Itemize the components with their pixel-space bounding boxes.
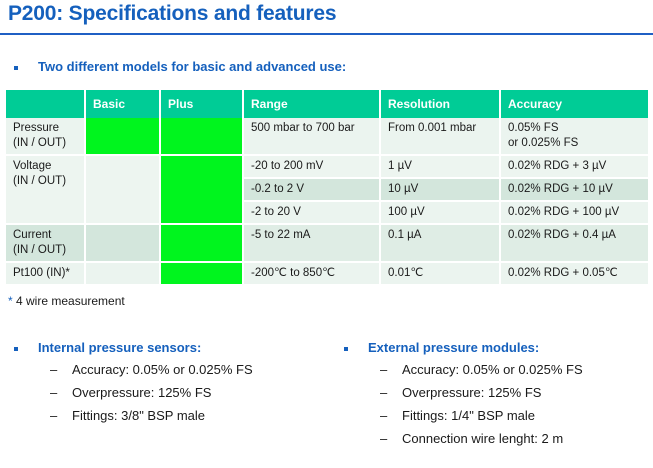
accuracy-voltage-2: 0.02% RDG + 10 µV — [500, 178, 648, 201]
square-bullet-icon — [14, 66, 18, 70]
range-pt100: -200℃ to 850℃ — [243, 262, 380, 285]
title-divider — [0, 33, 653, 35]
range-voltage-2: -0.2 to 2 V — [243, 178, 380, 201]
accuracy-current: 0.02% RDG + 0.4 µA — [500, 224, 648, 262]
resolution-pt100: 0.01℃ — [380, 262, 500, 285]
range-current: -5 to 22 mA — [243, 224, 380, 262]
dash-bullet-icon: – — [380, 431, 389, 447]
dash-bullet-icon: – — [380, 385, 389, 401]
basic-mark-voltage — [85, 155, 160, 224]
specifications-table: Basic Plus Range Resolution Accuracy Pre… — [6, 90, 648, 286]
footnote-text: 4 wire measurement — [13, 294, 125, 308]
col-header-param — [6, 90, 85, 118]
table-footnote: * 4 wire measurement — [8, 294, 125, 308]
internal-heading: Internal pressure sensors: — [14, 340, 334, 355]
table-row: Current (IN / OUT) -5 to 22 mA 0.1 µA 0.… — [6, 224, 648, 262]
param-name: Voltage — [13, 159, 77, 174]
param-sub: (IN / OUT) — [13, 136, 77, 151]
range-voltage-1: -20 to 200 mV — [243, 155, 380, 178]
internal-heading-label: Internal pressure sensors: — [38, 340, 201, 355]
dash-bullet-icon: – — [50, 362, 59, 378]
col-header-range: Range — [243, 90, 380, 118]
plus-mark-current — [160, 224, 243, 262]
table-header-row: Basic Plus Range Resolution Accuracy — [6, 90, 648, 118]
plus-mark-pt100 — [160, 262, 243, 285]
list-item: – Overpressure: 125% FS — [380, 385, 653, 401]
table-row: Pt100 (IN)* -200℃ to 850℃ 0.01℃ 0.02% RD… — [6, 262, 648, 285]
param-name: Pt100 (IN)* — [13, 266, 77, 281]
resolution-voltage-1: 1 µV — [380, 155, 500, 178]
param-sub: (IN / OUT) — [13, 243, 77, 258]
dash-bullet-icon: – — [380, 362, 389, 378]
external-item-list: – Accuracy: 0.05% or 0.025% FS – Overpre… — [344, 362, 653, 447]
list-item-label: Overpressure: 125% FS — [72, 385, 211, 401]
lead-bullet: Two different models for basic and advan… — [14, 59, 346, 74]
lead-bullet-label: Two different models for basic and advan… — [38, 59, 346, 74]
list-item: – Overpressure: 125% FS — [50, 385, 334, 401]
basic-mark-current — [85, 224, 160, 262]
row-param-voltage: Voltage (IN / OUT) — [6, 155, 85, 224]
basic-mark-pt100 — [85, 262, 160, 285]
accuracy-voltage-1: 0.02% RDG + 3 µV — [500, 155, 648, 178]
accuracy-voltage-3: 0.02% RDG + 100 µV — [500, 201, 648, 224]
resolution-current: 0.1 µA — [380, 224, 500, 262]
dash-bullet-icon: – — [50, 385, 59, 401]
internal-item-list: – Accuracy: 0.05% or 0.025% FS – Overpre… — [14, 362, 334, 424]
range-voltage-3: -2 to 20 V — [243, 201, 380, 224]
param-name: Current — [13, 228, 77, 243]
row-param-pressure: Pressure (IN / OUT) — [6, 118, 85, 155]
col-header-resolution: Resolution — [380, 90, 500, 118]
accuracy-line-1: 0.05% FS — [508, 121, 641, 136]
plus-mark-voltage — [160, 155, 243, 224]
list-item-label: Accuracy: 0.05% or 0.025% FS — [72, 362, 253, 378]
list-item: – Fittings: 3/8" BSP male — [50, 408, 334, 424]
list-item-label: Overpressure: 125% FS — [402, 385, 541, 401]
list-item: – Accuracy: 0.05% or 0.025% FS — [380, 362, 653, 378]
range-pressure: 500 mbar to 700 bar — [243, 118, 380, 155]
list-item-label: Connection wire lenght: 2 m — [402, 431, 563, 447]
basic-mark-pressure — [85, 118, 160, 155]
row-param-pt100: Pt100 (IN)* — [6, 262, 85, 285]
col-header-plus: Plus — [160, 90, 243, 118]
accuracy-pt100: 0.02% RDG + 0.05℃ — [500, 262, 648, 285]
resolution-voltage-3: 100 µV — [380, 201, 500, 224]
list-item: – Connection wire lenght: 2 m — [380, 431, 653, 447]
list-item: – Fittings: 1/4" BSP male — [380, 408, 653, 424]
dash-bullet-icon: – — [50, 408, 59, 424]
dash-bullet-icon: – — [380, 408, 389, 424]
list-item: – Accuracy: 0.05% or 0.025% FS — [50, 362, 334, 378]
accuracy-pressure: 0.05% FS or 0.025% FS — [500, 118, 648, 155]
external-heading-label: External pressure modules: — [368, 340, 539, 355]
accuracy-line-2: or 0.025% FS — [508, 136, 641, 151]
resolution-voltage-2: 10 µV — [380, 178, 500, 201]
param-name: Pressure — [13, 121, 77, 136]
page-title: P200: Specifications and features — [8, 2, 336, 26]
square-bullet-icon — [344, 347, 348, 351]
external-pressure-modules-block: External pressure modules: – Accuracy: 0… — [344, 340, 653, 447]
resolution-pressure: From 0.001 mbar — [380, 118, 500, 155]
list-item-label: Fittings: 1/4" BSP male — [402, 408, 535, 424]
col-header-accuracy: Accuracy — [500, 90, 648, 118]
plus-mark-pressure — [160, 118, 243, 155]
internal-pressure-sensors-block: Internal pressure sensors: – Accuracy: 0… — [14, 340, 334, 424]
list-item-label: Accuracy: 0.05% or 0.025% FS — [402, 362, 583, 378]
table-row: Pressure (IN / OUT) 500 mbar to 700 bar … — [6, 118, 648, 155]
external-heading: External pressure modules: — [344, 340, 653, 355]
row-param-current: Current (IN / OUT) — [6, 224, 85, 262]
list-item-label: Fittings: 3/8" BSP male — [72, 408, 205, 424]
square-bullet-icon — [14, 347, 18, 351]
table-row: Voltage (IN / OUT) -20 to 200 mV 1 µV 0.… — [6, 155, 648, 178]
param-sub: (IN / OUT) — [13, 174, 77, 189]
col-header-basic: Basic — [85, 90, 160, 118]
